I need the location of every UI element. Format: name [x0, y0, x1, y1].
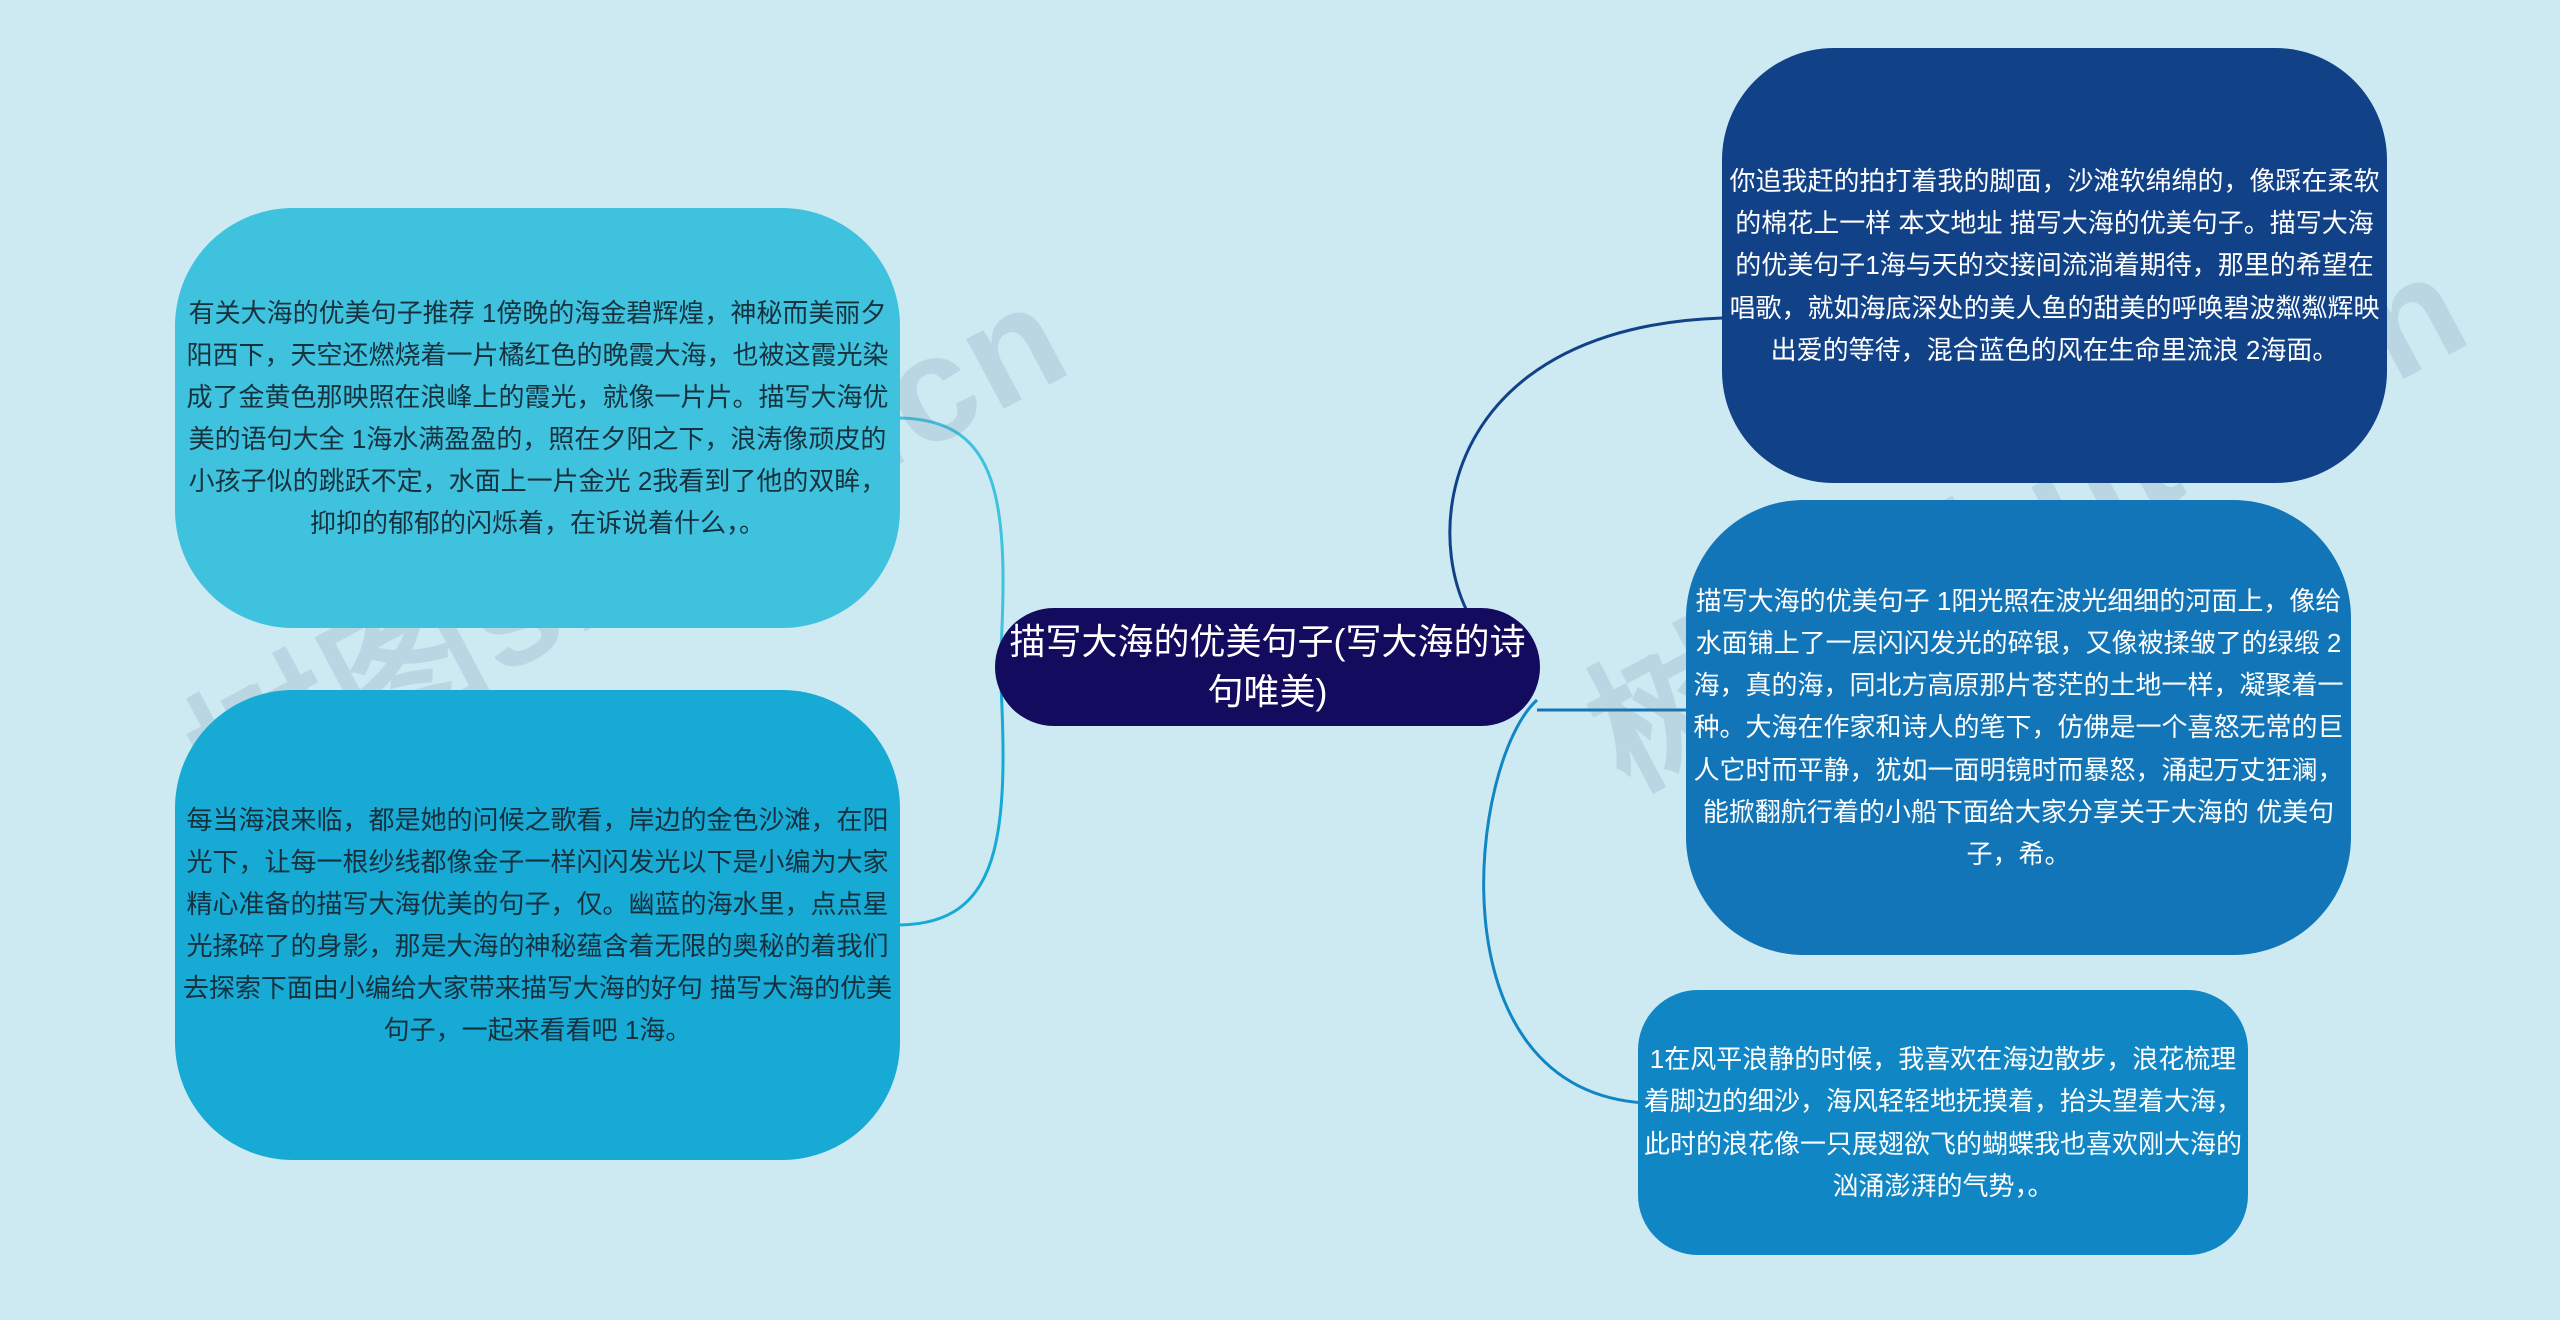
branch-node-bottom-left[interactable]: 每当海浪来临，都是她的问候之歌看，岸边的金色沙滩，在阳光下，让每一根纱线都像金子…	[175, 690, 900, 1160]
edge-bottom-left	[900, 667, 1003, 925]
branch-node-top-right-label: 你追我赶的拍打着我的脚面，沙滩软绵绵的，像踩在柔软的棉花上一样 本文地址 描写大…	[1722, 160, 2387, 371]
branch-node-middle-right[interactable]: 描写大海的优美句子 1阳光照在波光细细的河面上，像给水面铺上了一层闪闪发光的碎银…	[1686, 500, 2351, 955]
branch-node-middle-right-label: 描写大海的优美句子 1阳光照在波光细细的河面上，像给水面铺上了一层闪闪发光的碎银…	[1686, 580, 2351, 875]
mindmap-canvas: 树图shutu.cn 树图shutu.cn 有关大海的优美句子推荐 1傍晚的海金…	[0, 0, 2560, 1320]
center-topic-node[interactable]: 描写大海的优美句子(写大海的诗句唯美)	[995, 608, 1540, 726]
branch-node-top-left[interactable]: 有关大海的优美句子推荐 1傍晚的海金碧辉煌，神秘而美丽夕阳西下，天空还燃烧着一片…	[175, 208, 900, 628]
center-topic-label: 描写大海的优美句子(写大海的诗句唯美)	[995, 617, 1540, 716]
branch-node-bottom-left-label: 每当海浪来临，都是她的问候之歌看，岸边的金色沙滩，在阳光下，让每一根纱线都像金子…	[175, 799, 900, 1052]
edge-top-left	[900, 418, 1003, 667]
branch-node-bottom-right-label: 1在风平浪静的时候，我喜欢在海边散步，浪花梳理着脚边的细沙，海风轻轻地抚摸着，抬…	[1638, 1038, 2248, 1206]
branch-node-bottom-right[interactable]: 1在风平浪静的时候，我喜欢在海边散步，浪花梳理着脚边的细沙，海风轻轻地抚摸着，抬…	[1638, 990, 2248, 1255]
edge-bottom-right	[1484, 700, 1645, 1103]
branch-node-top-right[interactable]: 你追我赶的拍打着我的脚面，沙滩软绵绵的，像踩在柔软的棉花上一样 本文地址 描写大…	[1722, 48, 2387, 483]
branch-node-top-left-label: 有关大海的优美句子推荐 1傍晚的海金碧辉煌，神秘而美丽夕阳西下，天空还燃烧着一片…	[175, 292, 900, 545]
